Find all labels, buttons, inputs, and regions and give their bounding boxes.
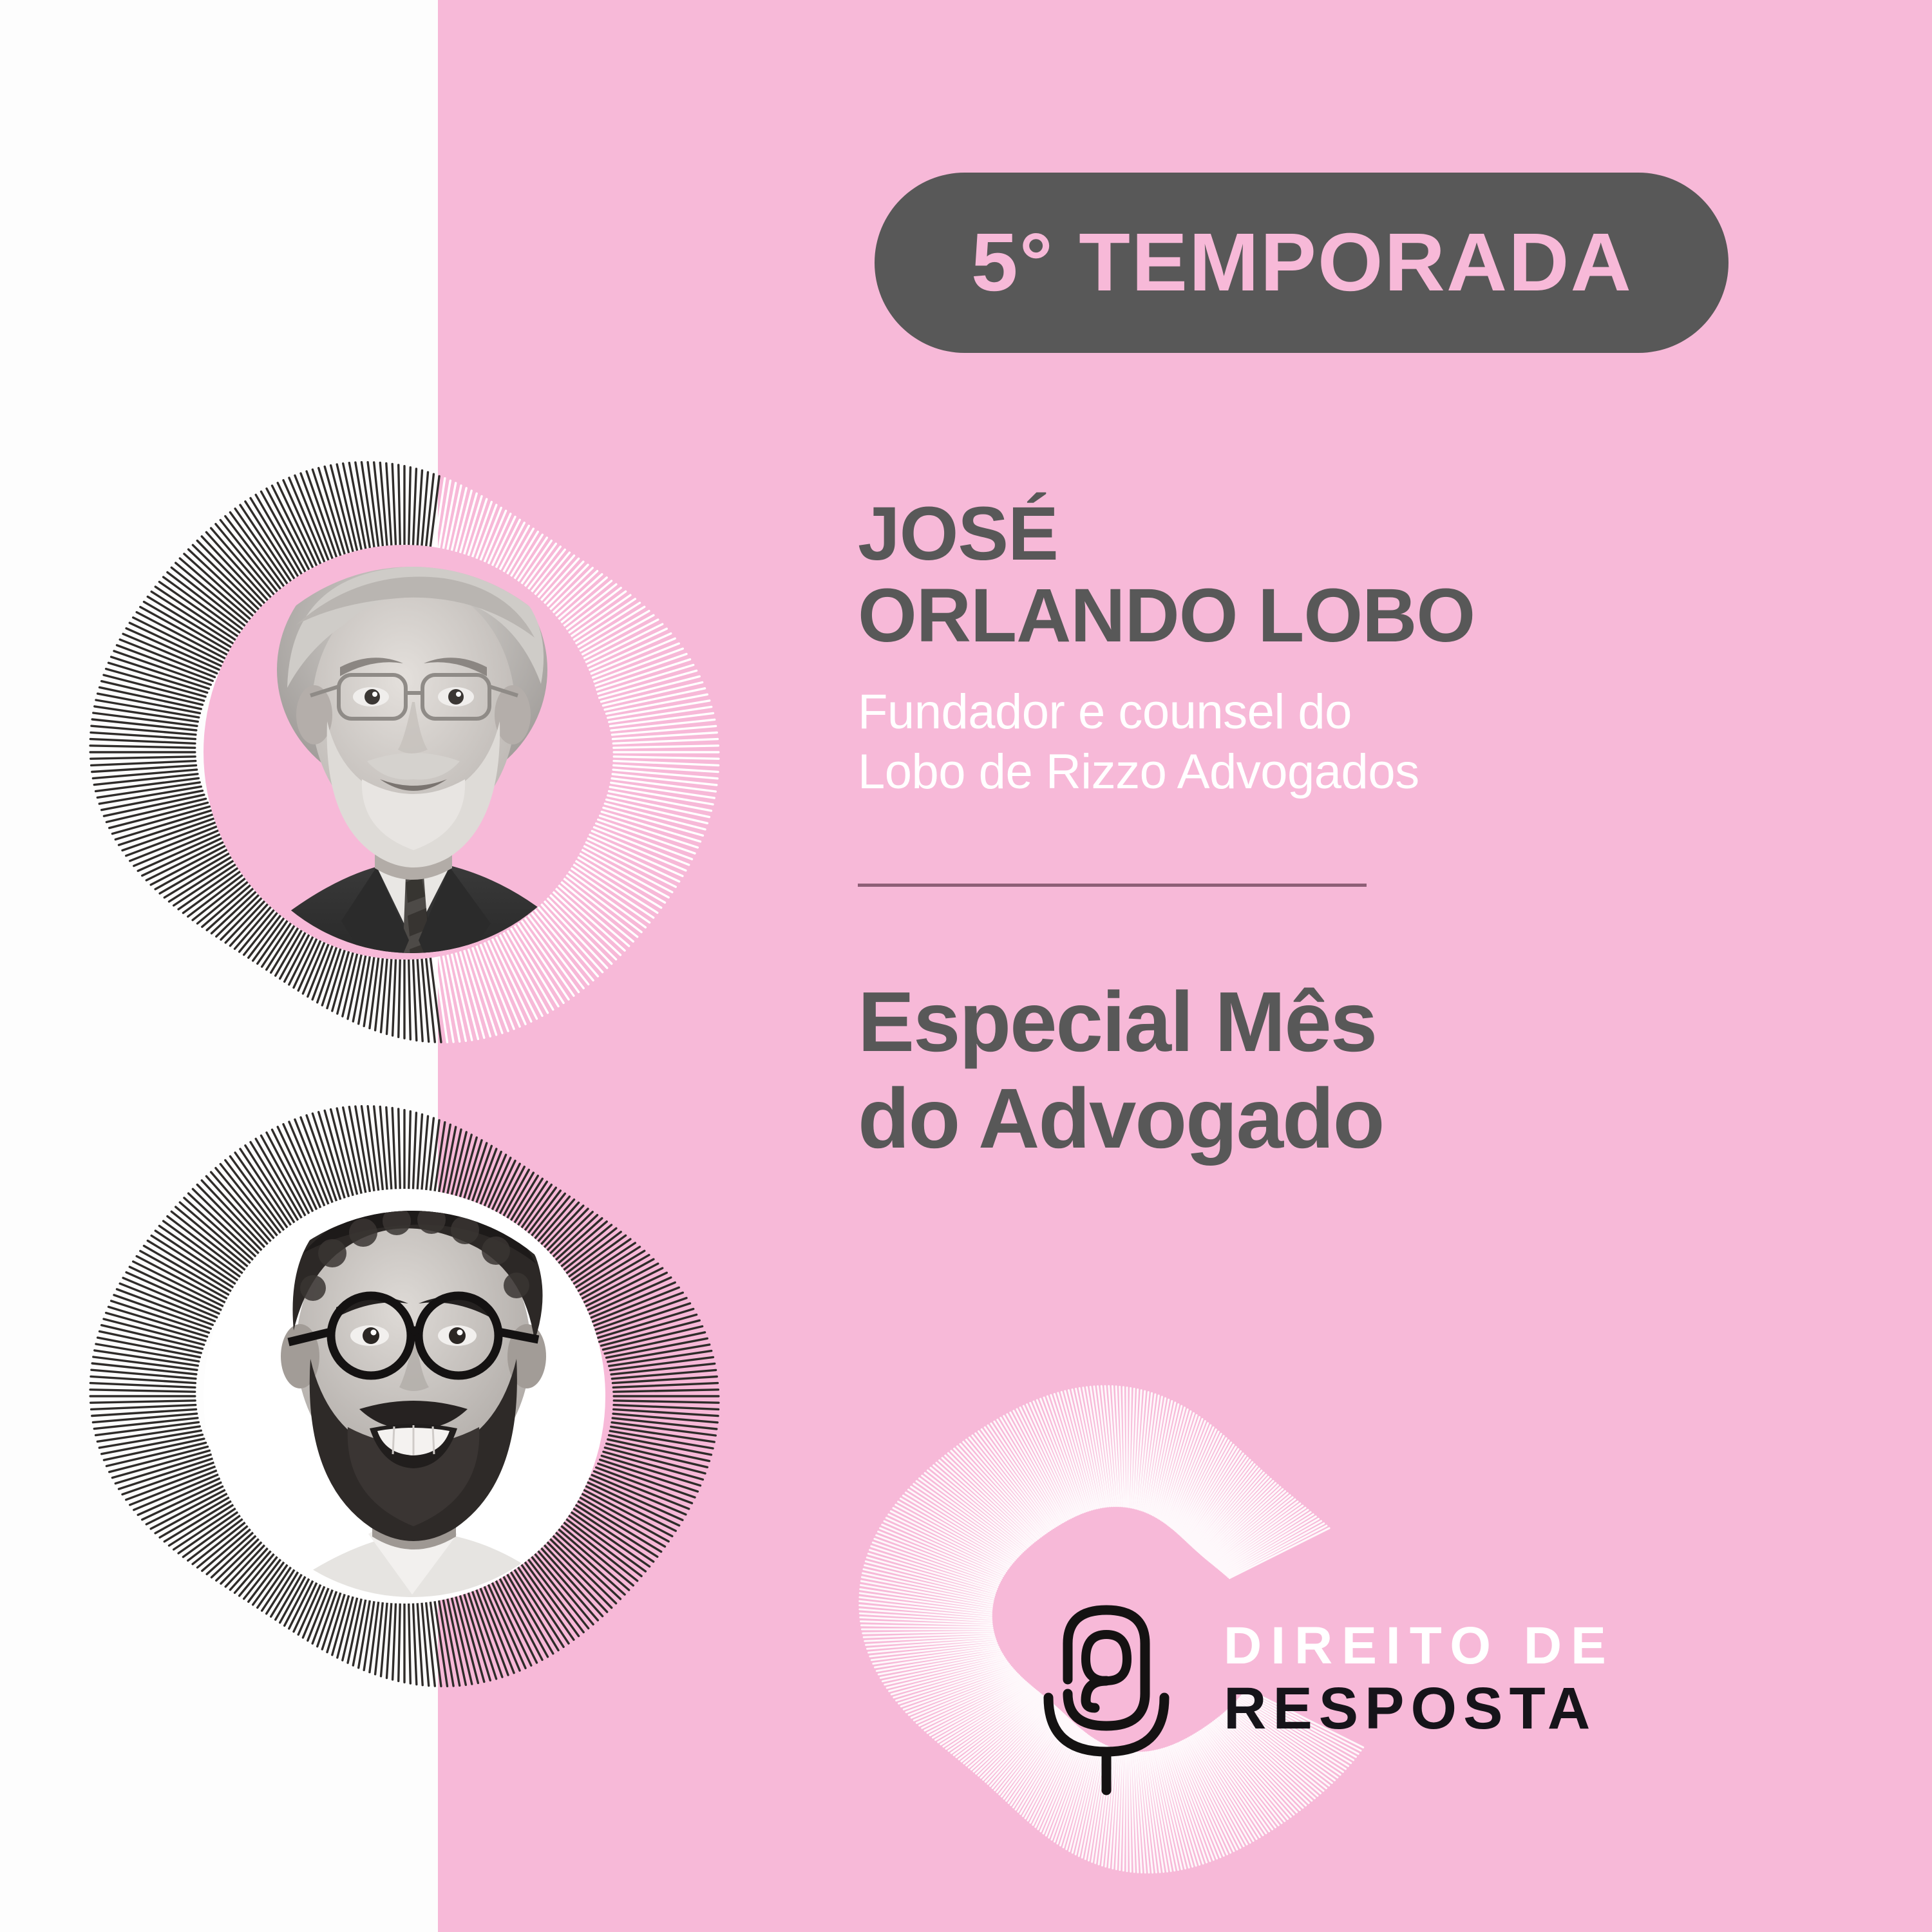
episode-title: Especial Mês do Advogado: [858, 974, 1824, 1168]
brand-logo: DIREITO DE RESPOSTA: [837, 1346, 1752, 1913]
season-badge-label: 5° TEMPORADA: [971, 222, 1633, 304]
guest-portrait-senior: [84, 431, 741, 1088]
episode-title-line-1: Especial Mês: [858, 974, 1824, 1070]
brand-wordmark: DIREITO DE RESPOSTA: [1224, 1616, 1752, 1742]
guest-name: JOSÉ ORLANDO LOBO: [858, 493, 1824, 658]
microphone-spiral-icon: [1030, 1597, 1204, 1803]
episode-title-line-2: do Advogado: [858, 1070, 1824, 1167]
brand-wordmark-line-2: RESPOSTA: [1224, 1676, 1752, 1742]
guest-name-line-1: JOSÉ: [858, 493, 1824, 575]
section-divider: [858, 884, 1367, 887]
brand-wordmark-line-1: DIREITO DE: [1224, 1616, 1752, 1676]
season-badge: 5° TEMPORADA: [875, 173, 1728, 353]
guest-portrait-host: [84, 1075, 741, 1732]
guest-name-line-2: ORLANDO LOBO: [858, 575, 1824, 657]
guest-role-line-1: Fundador e counsel do: [858, 683, 1792, 743]
guest-role-line-2: Lobo de Rizzo Advogados: [858, 743, 1792, 802]
guest-role: Fundador e counsel do Lobo de Rizzo Advo…: [858, 683, 1792, 802]
promo-card-canvas: 5° TEMPORADA JOSÉ ORLANDO LOBO Fundador …: [0, 0, 1932, 1932]
